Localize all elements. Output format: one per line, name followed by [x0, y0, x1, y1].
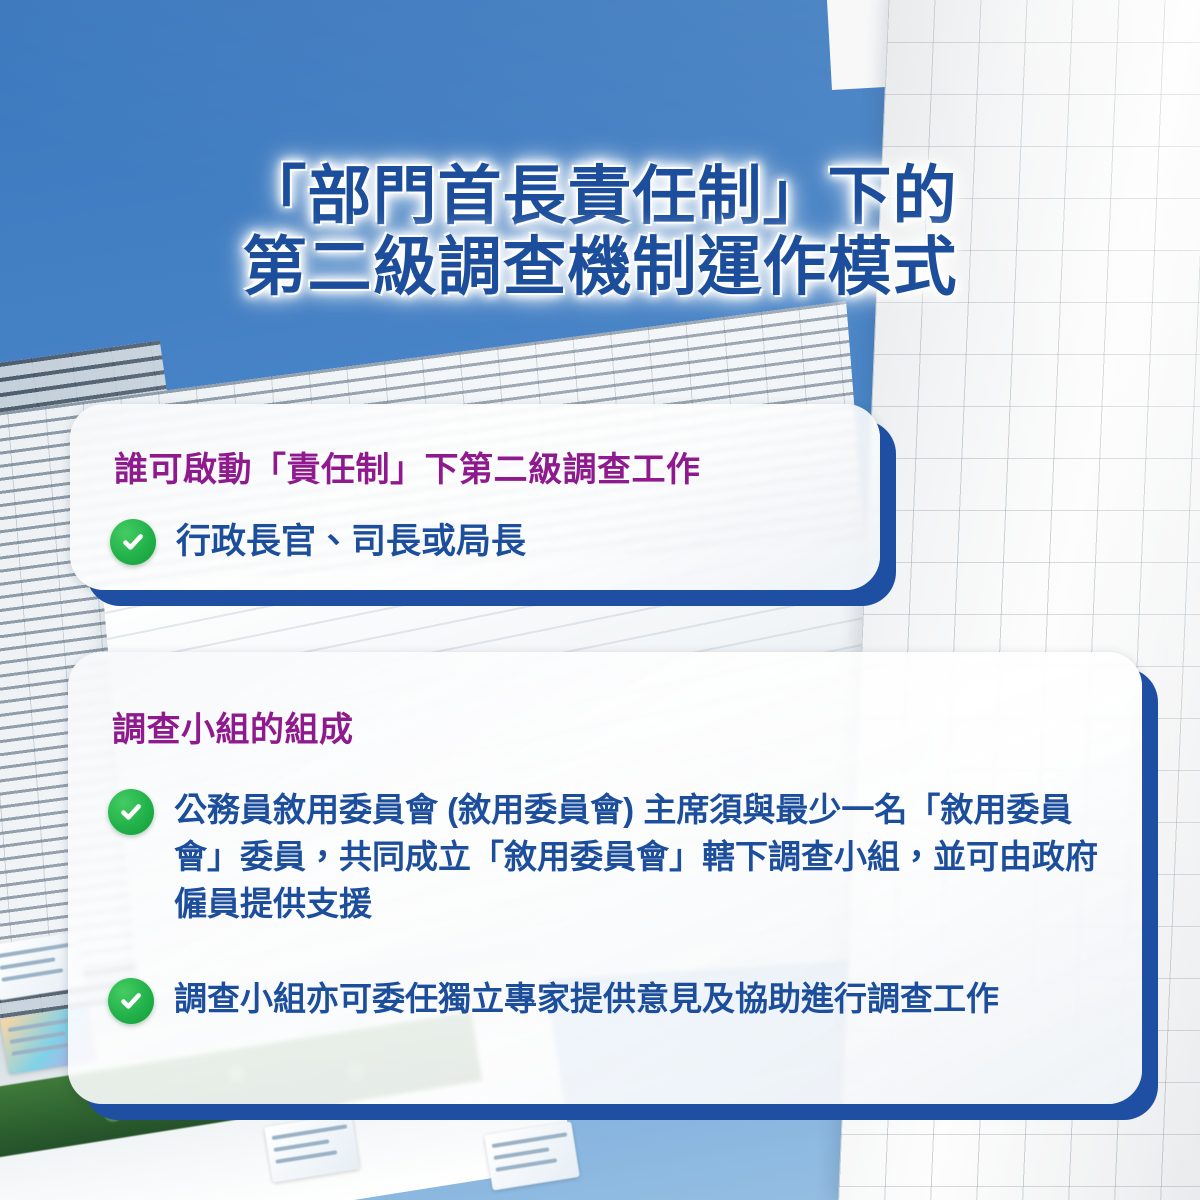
title-line-1: 「部門首長責任制」下的 [0, 161, 1200, 232]
bullet-text: 調查小組亦可委任獨立專家提供意見及協助進行調查工作 [174, 974, 999, 1023]
check-circle-icon [108, 978, 154, 1024]
card-eligibility: 誰可啟動「責任制」下第二級調查工作 行政長官、司長或局長 [70, 404, 880, 590]
check-circle-icon [108, 789, 154, 835]
poster-title: 「部門首長責任制」下的 第二級調查機制運作模式 [0, 161, 1200, 303]
list-item: 公務員敘用委員會 (敘用委員會) 主席須與最少一名「敘用委員會」委員，共同成立「… [68, 751, 1142, 928]
infographic-poster: 「部門首長責任制」下的 第二級調查機制運作模式 誰可啟動「責任制」下第二級調查工… [0, 0, 1200, 1200]
bullet-text: 行政長官、司長或局長 [176, 515, 526, 567]
title-line-2: 第二級調查機制運作模式 [0, 232, 1200, 303]
card-composition: 調查小組的組成 公務員敘用委員會 (敘用委員會) 主席須與最少一名「敘用委員會」… [68, 652, 1142, 1104]
card-composition-bullet-list: 公務員敘用委員會 (敘用委員會) 主席須與最少一名「敘用委員會」委員，共同成立「… [68, 751, 1142, 1024]
check-circle-icon [110, 519, 156, 565]
list-item: 調查小組亦可委任獨立專家提供意見及協助進行調查工作 [68, 928, 1142, 1024]
card-eligibility-heading: 誰可啟動「責任制」下第二級調查工作 [70, 404, 880, 491]
list-item: 行政長官、司長或局長 [70, 491, 880, 567]
bullet-text: 公務員敘用委員會 (敘用委員會) 主席須與最少一名「敘用委員會」委員，共同成立「… [174, 785, 1102, 928]
card-eligibility-bullet-list: 行政長官、司長或局長 [70, 491, 880, 567]
card-composition-heading: 調查小組的組成 [68, 652, 1142, 751]
